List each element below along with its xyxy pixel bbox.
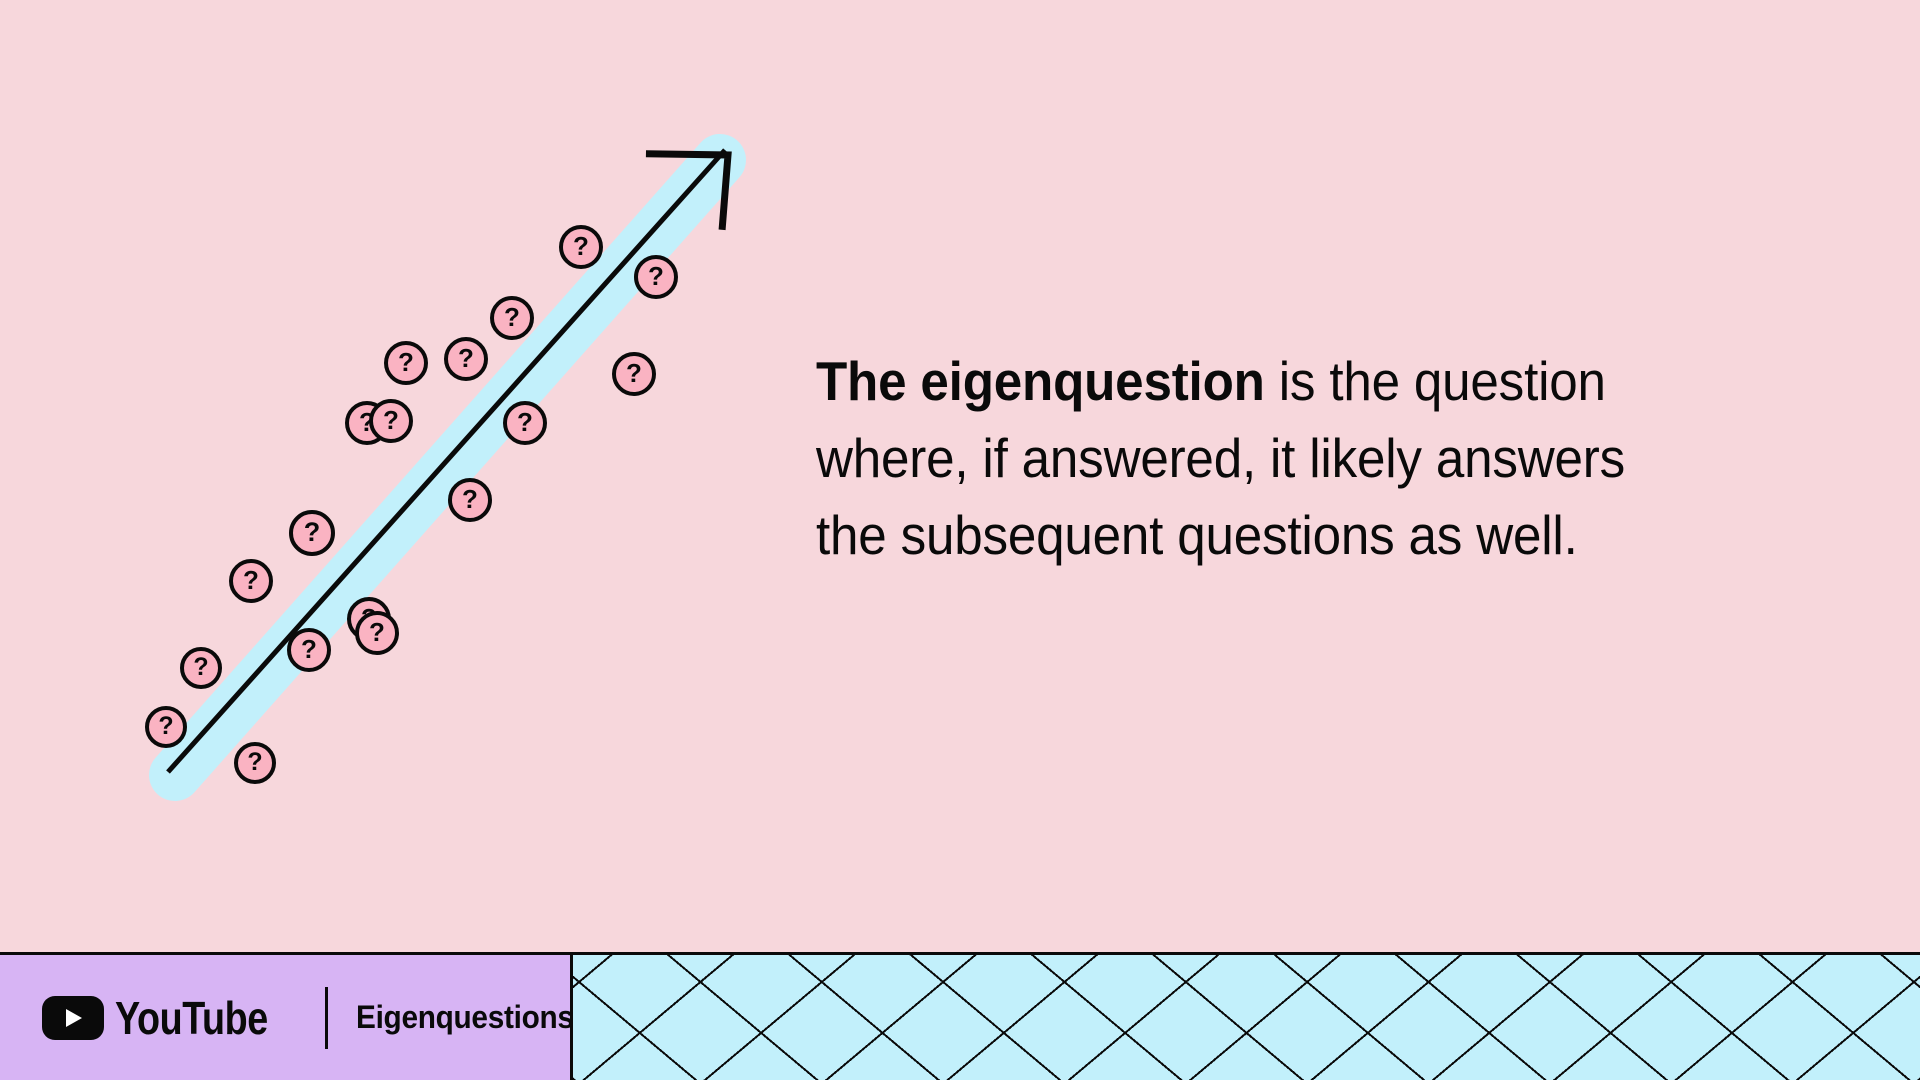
question-badge: ? — [289, 510, 335, 556]
question-badge: ? — [448, 478, 492, 522]
arrow-shaft — [168, 150, 725, 772]
question-mark-glyph: ? — [383, 407, 399, 433]
question-mark-glyph: ? — [462, 486, 478, 512]
youtube-wordmark: YouTube — [115, 991, 268, 1045]
question-mark-glyph: ? — [504, 304, 520, 330]
question-badge: ? — [634, 255, 678, 299]
eigenquestion-diagram: ?????????????????? — [0, 0, 860, 870]
question-mark-glyph: ? — [458, 345, 474, 371]
question-badge: ? — [145, 706, 187, 748]
arrow-graphic — [0, 0, 860, 870]
question-mark-glyph: ? — [247, 750, 262, 775]
question-badge: ? — [612, 352, 656, 396]
question-badge: ? — [287, 628, 331, 672]
slide-canvas: ?????????????????? The eigenquestion is … — [0, 0, 1920, 1080]
question-badge: ? — [234, 742, 276, 784]
question-mark-glyph: ? — [573, 233, 589, 259]
body-copy: The eigenquestion is the question where,… — [816, 343, 1672, 574]
brand-divider — [325, 987, 328, 1049]
diamond-lattice-pattern — [573, 955, 1920, 1080]
question-badge: ? — [490, 296, 534, 340]
question-badge: ? — [503, 401, 547, 445]
question-badge: ? — [355, 611, 399, 655]
footer-bar: YouTube Eigenquestions — [0, 952, 1920, 1080]
question-badge: ? — [559, 225, 603, 269]
question-mark-glyph: ? — [369, 619, 385, 645]
highlight-stroke — [175, 160, 720, 775]
question-badge: ? — [444, 337, 488, 381]
question-mark-glyph: ? — [648, 263, 664, 289]
brand-bar: YouTube Eigenquestions — [0, 955, 573, 1080]
question-mark-glyph: ? — [301, 636, 317, 662]
main-stage: ?????????????????? The eigenquestion is … — [0, 0, 1920, 952]
question-mark-glyph: ? — [243, 567, 259, 593]
show-title: Eigenquestions — [356, 999, 574, 1036]
question-mark-glyph: ? — [517, 409, 533, 435]
question-badge: ? — [384, 341, 428, 385]
lede-phrase: The eigenquestion — [816, 350, 1265, 412]
question-badge: ? — [180, 647, 222, 689]
question-mark-glyph: ? — [398, 349, 414, 375]
question-mark-glyph: ? — [626, 360, 642, 386]
question-mark-glyph: ? — [193, 655, 208, 680]
question-mark-glyph: ? — [304, 519, 321, 546]
youtube-play-icon — [42, 996, 104, 1040]
question-mark-glyph: ? — [158, 714, 173, 739]
question-badge: ? — [369, 399, 413, 443]
question-badge: ? — [229, 559, 273, 603]
youtube-logo[interactable]: YouTube — [42, 991, 301, 1045]
